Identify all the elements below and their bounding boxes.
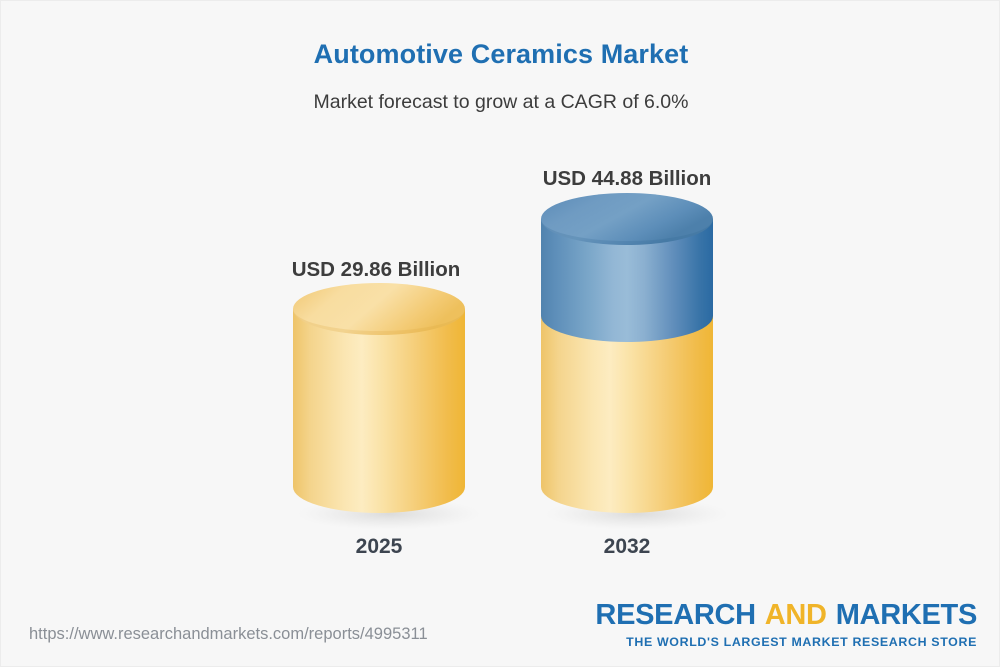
brand-tagline: THE WORLD'S LARGEST MARKET RESEARCH STOR… <box>595 636 977 648</box>
brand-word-markets: MARKETS <box>836 599 977 631</box>
bar-category-label-2032: 2032 <box>541 535 713 559</box>
bar-category-label-2025: 2025 <box>293 535 465 559</box>
bar-value-label-2032: USD 44.88 Billion <box>441 167 813 191</box>
brand-word-and: AND <box>765 599 827 631</box>
bar-value-label-2025: USD 29.86 Billion <box>193 258 559 282</box>
bar-cylinder-2025 <box>293 283 465 541</box>
brand-logo: RESEARCHANDMARKETS THE WORLD'S LARGEST M… <box>595 601 977 648</box>
brand-word-research: RESEARCH <box>595 599 755 631</box>
bar-cylinder-2032 <box>541 193 713 541</box>
brand-wordmark: RESEARCHANDMARKETS <box>595 601 977 630</box>
plot-area: USD 29.86 Billion <box>1 1 1000 601</box>
source-url[interactable]: https://www.researchandmarkets.com/repor… <box>29 625 428 644</box>
chart-canvas: Automotive Ceramics Market Market foreca… <box>0 0 1000 667</box>
